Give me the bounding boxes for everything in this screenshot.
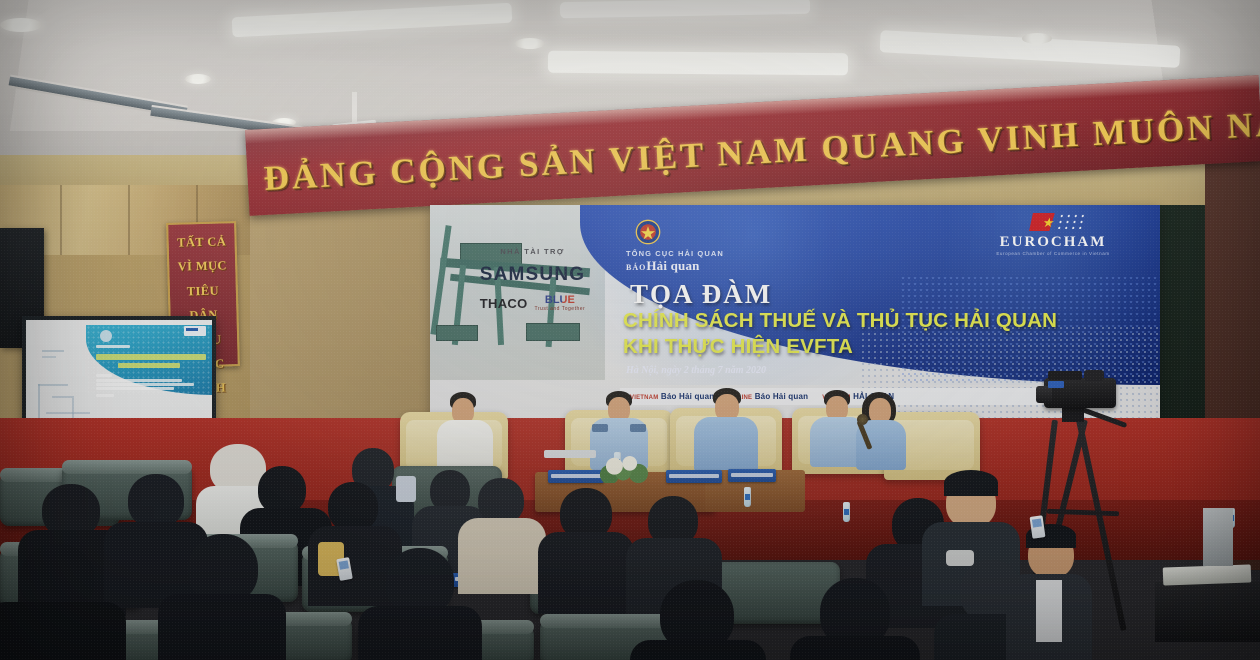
eu-stars-icon [1056, 213, 1085, 229]
shirt-front [1036, 580, 1062, 642]
event-kicker: TỌA ĐÀM [630, 279, 772, 310]
camera-lens-icon [1036, 386, 1052, 403]
organizer-brand-name: Hải quan [646, 258, 699, 273]
sponsor-logo-thaco: THACO [480, 296, 528, 311]
ceiling-strip-light [548, 51, 848, 76]
organizer-brand: BÁOHải quan [626, 258, 700, 274]
slide-title-bar [96, 354, 206, 360]
camera-top-handle [1048, 371, 1082, 380]
hair [944, 470, 998, 496]
flag-star-icon: ★ [1042, 216, 1056, 229]
ceiling-downlight [0, 18, 42, 32]
conference-photo: ĐẢNG CỘNG SẢN VIỆT NAM QUANG VINH MUÔN N… [0, 0, 1260, 660]
strip-logo-item: VIETNAM Báo Hải quan [630, 392, 714, 401]
organizer-org-line: TỔNG CỤC HẢI QUAN [626, 249, 724, 258]
backdrop-logo-strip: VIETNAM Báo Hải quan ONLINE Báo Hải quan… [620, 388, 1080, 405]
tripod-head [1062, 406, 1084, 422]
event-title-line-1: CHÍNH SÁCH THUẾ VÀ THỦ TỤC HẢI QUAN [623, 309, 1057, 333]
ceiling-downlight [185, 74, 211, 84]
ceiling-downlight [1022, 33, 1052, 44]
camera-station-tag [1048, 381, 1064, 388]
event-date-line: Hà Nội, ngày 2 tháng 7 năm 2020 [626, 365, 766, 376]
organizer-brand-prefix: BÁO [626, 263, 646, 272]
partner-logo-eurocham: ★ EUROCHAM European Chamber of Commerce … [978, 213, 1128, 271]
projection-screen-surface [26, 320, 212, 434]
ceiling-downlight [515, 38, 545, 49]
customs-emblem-icon [635, 219, 661, 245]
shirt-collar [396, 476, 416, 502]
side-slogan-line-1: TẤT CẢ [168, 229, 235, 255]
microphone-head-icon [857, 414, 868, 425]
slide-partner-logo [184, 326, 206, 336]
event-title-line-2: KHI THỰC HIỆN EVFTA [623, 335, 853, 359]
vietnam-flag-icon: ★ [1029, 213, 1077, 231]
hair-clip-icon [946, 550, 974, 566]
audience-area [0, 430, 1260, 660]
camera-viewfinder [1084, 370, 1104, 381]
partner-tagline: European Chamber of Commerce in Vietnam [978, 251, 1128, 256]
slide-emblem-icon [100, 330, 112, 342]
attendee-phone[interactable] [1030, 515, 1046, 539]
sponsor-logo-third: BLUE Trust and Together [535, 294, 586, 312]
partner-name: EUROCHAM [978, 234, 1128, 251]
side-slogan-line-2: VÌ MỤC TIÊU [169, 254, 236, 304]
